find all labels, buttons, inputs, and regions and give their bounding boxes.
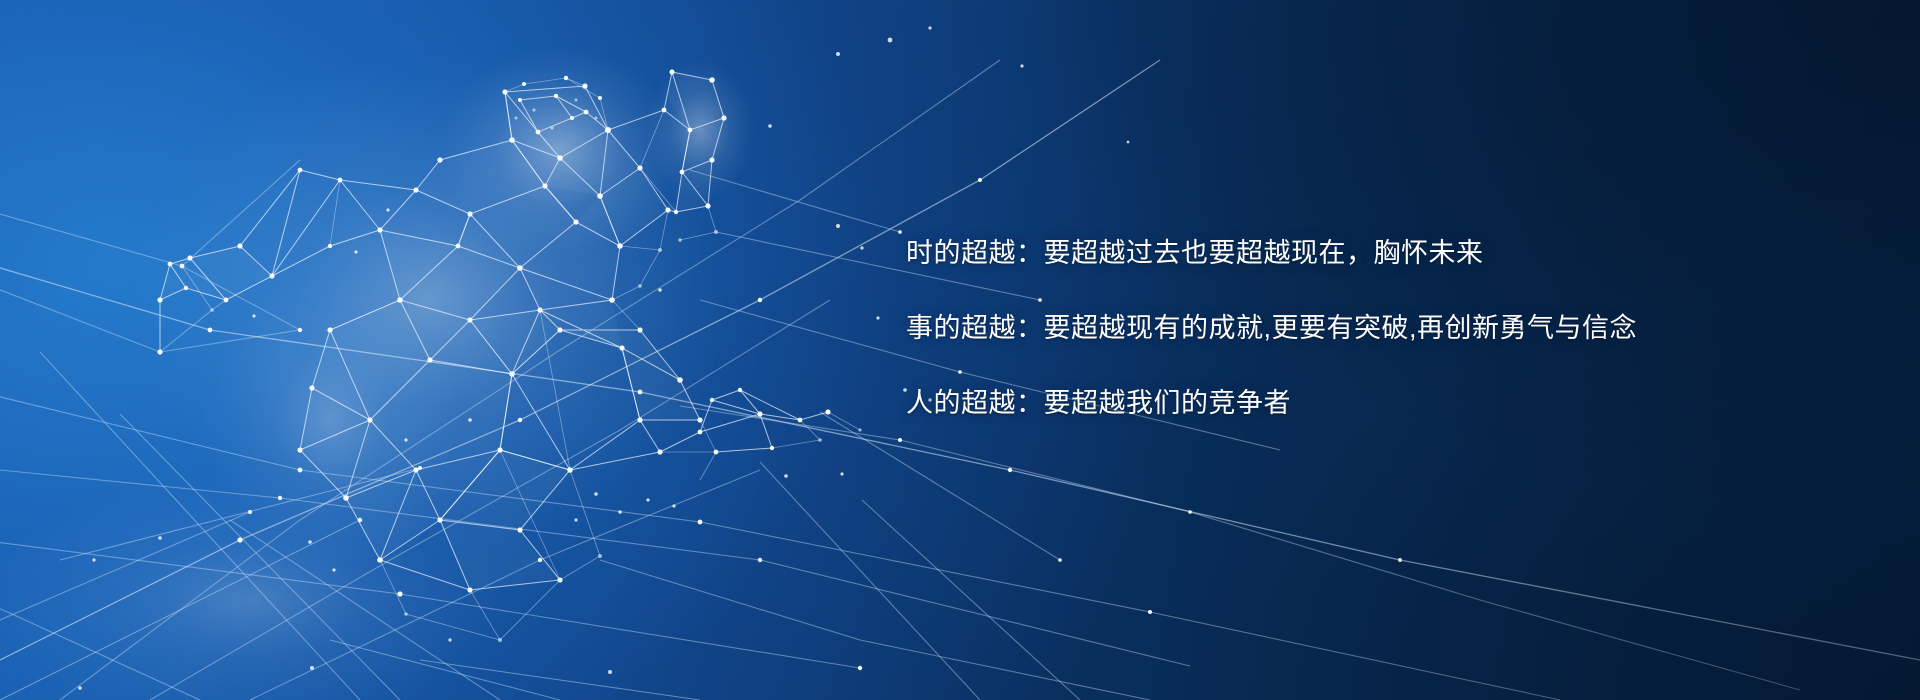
tagline-matter: 事的超越：要超越现有的成就,更要有突破,再创新勇气与信念 [906,313,1826,343]
tagline-block: 时的超越：要超越过去也要超越现在，胸怀未来 事的超越：要超越现有的成就,更要有突… [906,238,1826,418]
hero-banner: 时的超越：要超越过去也要超越现在，胸怀未来 事的超越：要超越现有的成就,更要有突… [0,0,1920,700]
tagline-people: 人的超越：要超越我们的竞争者 [906,388,1826,418]
tagline-time: 时的超越：要超越过去也要超越现在，胸怀未来 [906,238,1826,268]
